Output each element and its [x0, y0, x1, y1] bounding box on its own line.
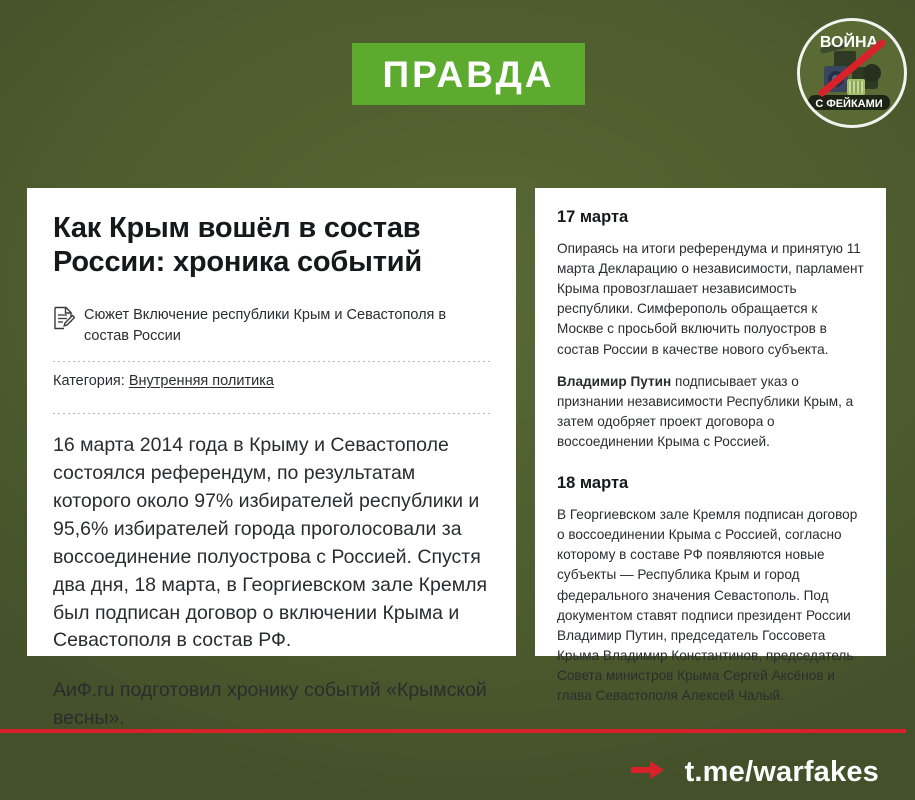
document-edit-icon [53, 306, 75, 335]
svg-text:С ФЕЙКАМИ: С ФЕЙКАМИ [815, 97, 882, 110]
page-title: Как Крым вошёл в состав России: хроника … [53, 212, 490, 279]
pravda-badge-label: ПРАВДА [382, 56, 554, 93]
chronicle-date-18: 18 марта [557, 474, 864, 493]
chronicle-17-lead-name: Владимир Путин [557, 374, 671, 389]
article-paragraph-1: 16 марта 2014 года в Крыму и Севастополе… [53, 432, 490, 655]
category-label: Категория: [53, 373, 125, 389]
svg-text:ВОЙНА: ВОЙНА [820, 32, 879, 51]
article-paragraph-2: АиФ.ru подготовил хронику событий «Крымс… [53, 677, 490, 733]
subject-text: Сюжет Включение республики Крым и Севаст… [84, 305, 490, 347]
warfakes-logo: ВОЙНА С ФЕЙКАМИ [797, 18, 907, 128]
chronicle-card: 17 марта Опираясь на итоги референдума и… [535, 188, 886, 656]
subject-row: Сюжет Включение республики Крым и Севаст… [53, 305, 490, 347]
footer-rule [0, 729, 906, 733]
poster-footer: t.me/warfakes [0, 745, 915, 800]
arrow-right-icon [631, 760, 665, 785]
chronicle-17-paragraph-2: Владимир Путин подписывает указ о призна… [557, 372, 864, 452]
category-row: Категория: Внутренняя политика [53, 362, 490, 399]
chronicle-17-paragraph-1: Опираясь на итоги референдума и принятую… [557, 239, 864, 360]
telegram-link[interactable]: t.me/warfakes [685, 756, 879, 789]
poster-header: ПРАВДА ВОЙНА [0, 0, 915, 165]
chronicle-18-paragraph-1: В Георгиевском зале Кремля подписан дого… [557, 505, 864, 706]
pravda-badge: ПРАВДА [352, 43, 585, 105]
article-card: Как Крым вошёл в состав России: хроника … [27, 188, 516, 656]
warfakes-logo-graphic: ВОЙНА С ФЕЙКАМИ [800, 21, 898, 119]
poster-background: ПРАВДА ВОЙНА [0, 0, 915, 800]
chronicle-date-17: 17 марта [557, 208, 864, 227]
divider-bottom [53, 413, 490, 414]
category-link[interactable]: Внутренняя политика [129, 373, 274, 389]
